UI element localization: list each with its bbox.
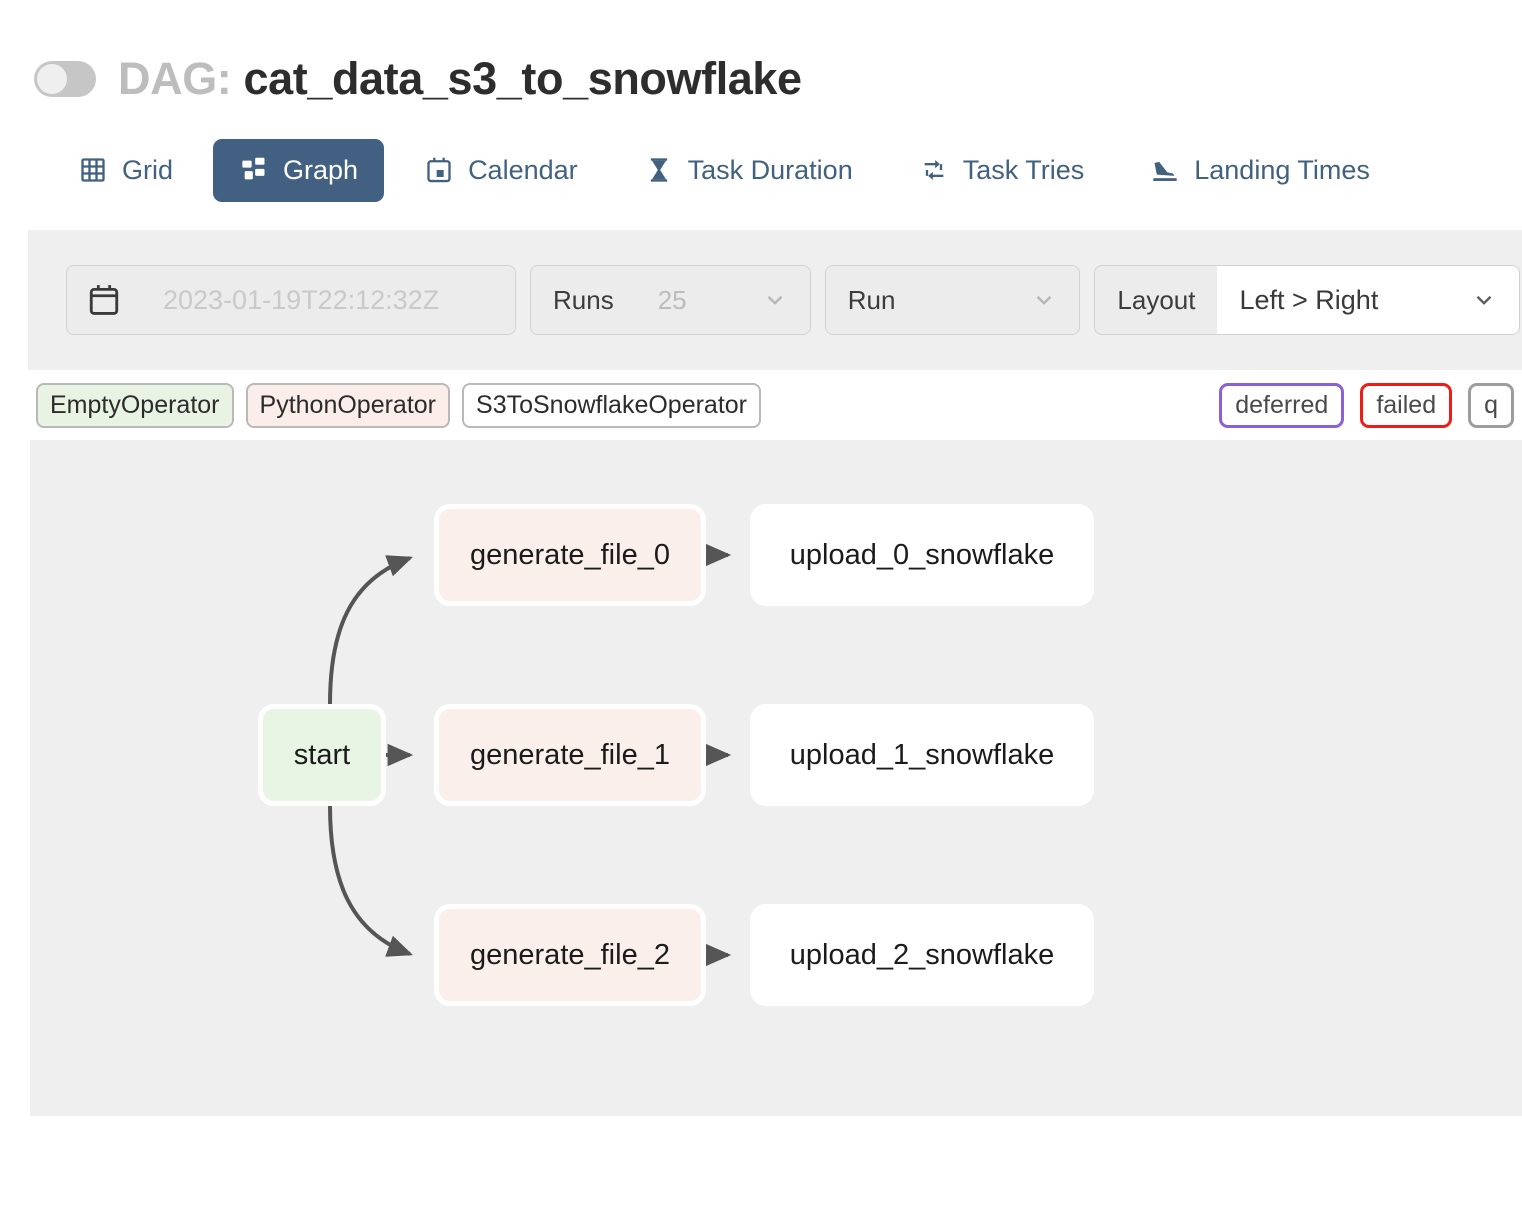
graph-node-upload_1_snowflake[interactable]: upload_1_snowflake <box>750 704 1094 806</box>
legend-operator-empty[interactable]: EmptyOperator <box>36 383 234 428</box>
graph-node-label: generate_file_2 <box>470 939 670 972</box>
tab-calendar[interactable]: Calendar <box>398 139 604 202</box>
chevron-down-icon <box>1031 287 1057 313</box>
layout-value: Left > Right <box>1239 285 1455 316</box>
graph-node-label: upload_2_snowflake <box>790 939 1054 972</box>
graph-node-label: start <box>294 739 350 772</box>
tab-landing-times-label: Landing Times <box>1194 155 1370 186</box>
layout-label: Layout <box>1094 265 1217 335</box>
edge-start-generate_file_2 <box>330 806 410 954</box>
runs-value: 25 <box>658 285 746 316</box>
grid-icon <box>78 155 108 185</box>
runs-group: Runs 25 <box>530 265 811 335</box>
graph-node-label: generate_file_1 <box>470 739 670 772</box>
tab-graph[interactable]: Graph <box>213 139 384 202</box>
legend-row: EmptyOperator PythonOperator S3ToSnowfla… <box>28 370 1522 440</box>
graph-icon <box>239 155 269 185</box>
run-label: Run <box>825 265 918 335</box>
graph-node-label: upload_1_snowflake <box>790 739 1054 772</box>
layout-select[interactable]: Left > Right <box>1217 265 1520 335</box>
view-tabs: Grid Graph Calendar <box>0 110 1522 230</box>
runs-label: Runs <box>530 265 636 335</box>
graph-node-generate_file_0[interactable]: generate_file_0 <box>434 504 706 606</box>
run-group: Run <box>825 265 1081 335</box>
layout-group: Layout Left > Right <box>1094 265 1520 335</box>
chevron-down-icon <box>762 287 788 313</box>
date-picker-group: 2023-01-19T22:12:32Z <box>66 265 516 335</box>
graph-node-generate_file_2[interactable]: generate_file_2 <box>434 904 706 1006</box>
date-picker-button[interactable] <box>66 265 141 335</box>
dag-id: cat_data_s3_to_snowflake <box>244 53 802 104</box>
calendar-icon <box>424 155 454 185</box>
tab-grid[interactable]: Grid <box>52 139 199 202</box>
hourglass-icon <box>644 155 674 185</box>
status-badge-deferred[interactable]: deferred <box>1219 383 1344 428</box>
dag-label: DAG: <box>118 53 231 104</box>
runs-select[interactable]: 25 <box>636 265 811 335</box>
date-input-placeholder: 2023-01-19T22:12:32Z <box>163 285 493 316</box>
date-input[interactable]: 2023-01-19T22:12:32Z <box>141 265 516 335</box>
tab-landing-times[interactable]: Landing Times <box>1124 139 1396 202</box>
dag-header: DAG: cat_data_s3_to_snowflake <box>0 0 1522 110</box>
graph-node-start[interactable]: start <box>258 704 386 806</box>
tab-graph-label: Graph <box>283 155 358 186</box>
dag-pause-toggle[interactable] <box>34 61 96 97</box>
run-select[interactable] <box>917 265 1080 335</box>
toggle-knob <box>37 64 67 94</box>
tab-task-tries-label: Task Tries <box>963 155 1085 186</box>
graph-node-label: generate_file_0 <box>470 539 670 572</box>
tab-task-tries[interactable]: Task Tries <box>893 139 1111 202</box>
legend-operator-s3tosnowflake[interactable]: S3ToSnowflakeOperator <box>462 383 761 428</box>
filter-toolbar: 2023-01-19T22:12:32Z Runs 25 Run Layout <box>28 230 1522 370</box>
graph-canvas[interactable]: start generate_file_0 generate_file_1 ge… <box>30 440 1522 1116</box>
landing-icon <box>1150 155 1180 185</box>
graph-node-label: upload_0_snowflake <box>790 539 1054 572</box>
tab-grid-label: Grid <box>122 155 173 186</box>
chevron-down-icon <box>1471 287 1497 313</box>
status-badge-queued[interactable]: q <box>1468 383 1514 428</box>
edge-start-generate_file_0 <box>330 558 410 704</box>
retry-icon <box>919 155 949 185</box>
graph-node-upload_2_snowflake[interactable]: upload_2_snowflake <box>750 904 1094 1006</box>
tab-task-duration[interactable]: Task Duration <box>618 139 879 202</box>
page-title: DAG: cat_data_s3_to_snowflake <box>118 53 802 105</box>
graph-node-generate_file_1[interactable]: generate_file_1 <box>434 704 706 806</box>
tab-task-duration-label: Task Duration <box>688 155 853 186</box>
legend-operator-python[interactable]: PythonOperator <box>246 383 451 428</box>
status-badge-failed[interactable]: failed <box>1360 383 1452 428</box>
tab-calendar-label: Calendar <box>468 155 578 186</box>
graph-node-upload_0_snowflake[interactable]: upload_0_snowflake <box>750 504 1094 606</box>
